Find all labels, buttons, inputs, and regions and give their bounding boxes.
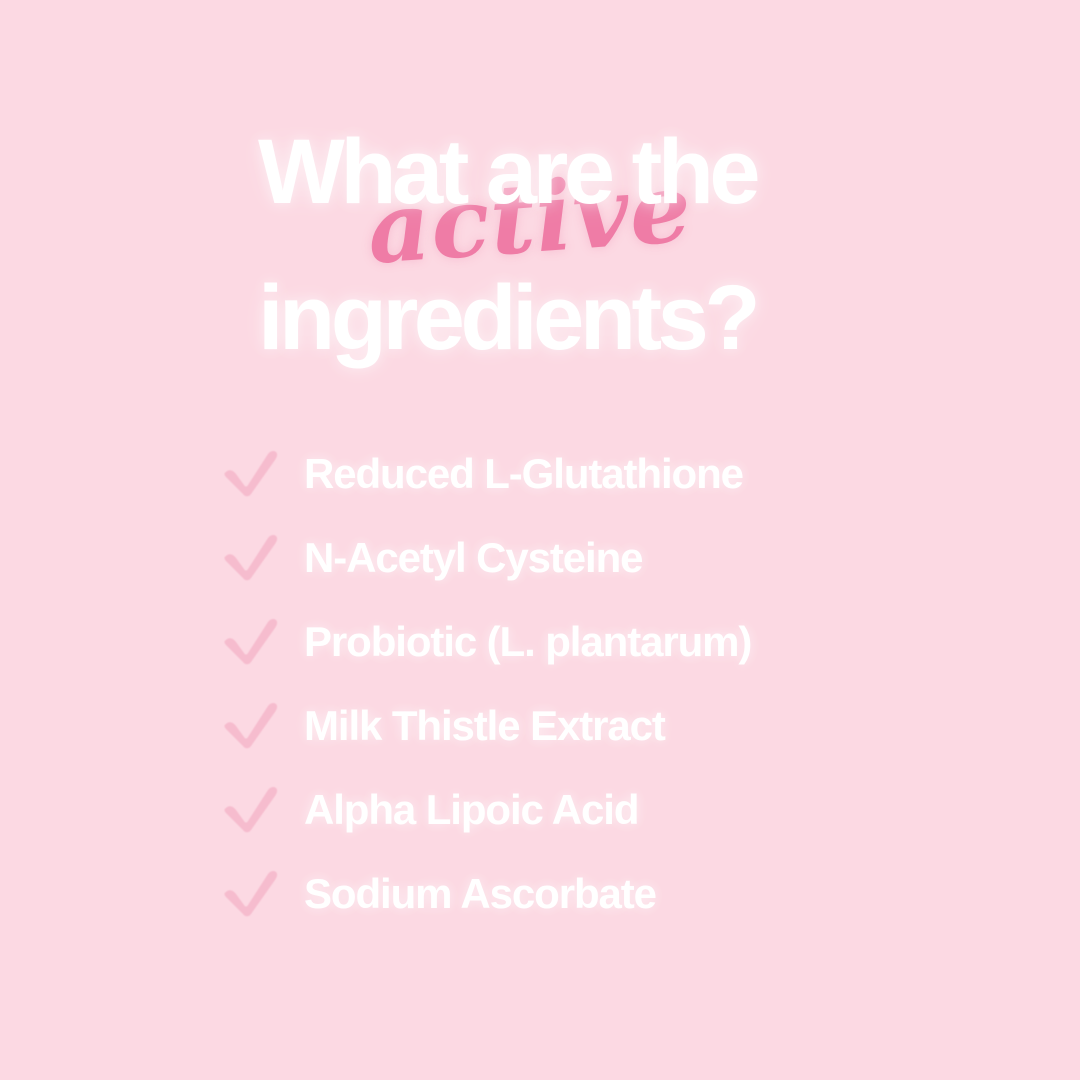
list-item: Sodium Ascorbate bbox=[218, 852, 1018, 936]
ingredient-label: N-Acetyl Cysteine bbox=[304, 537, 642, 579]
headline-line-1: What are the bbox=[258, 126, 756, 218]
list-item: N-Acetyl Cysteine bbox=[218, 516, 1018, 600]
list-item: Milk Thistle Extract bbox=[218, 684, 1018, 768]
poster-canvas: What are the active ingredients? Reduced… bbox=[0, 0, 1080, 1080]
check-icon bbox=[218, 528, 284, 588]
list-item: Probiotic (L. plantarum) bbox=[218, 600, 1018, 684]
check-icon bbox=[218, 864, 284, 924]
ingredient-list: Reduced L-Glutathione N-Acetyl Cysteine … bbox=[218, 432, 1018, 936]
ingredient-label: Reduced L-Glutathione bbox=[304, 453, 743, 495]
ingredient-label: Alpha Lipoic Acid bbox=[304, 789, 638, 831]
check-icon bbox=[218, 696, 284, 756]
headline-block: What are the active ingredients? bbox=[0, 0, 1080, 400]
check-icon bbox=[218, 612, 284, 672]
list-item: Reduced L-Glutathione bbox=[218, 432, 1018, 516]
ingredient-label: Probiotic (L. plantarum) bbox=[304, 621, 751, 663]
ingredient-label: Milk Thistle Extract bbox=[304, 705, 665, 747]
list-item: Alpha Lipoic Acid bbox=[218, 768, 1018, 852]
check-icon bbox=[218, 780, 284, 840]
headline-line-2: ingredients? bbox=[258, 272, 756, 364]
ingredient-label: Sodium Ascorbate bbox=[304, 873, 656, 915]
check-icon bbox=[218, 444, 284, 504]
